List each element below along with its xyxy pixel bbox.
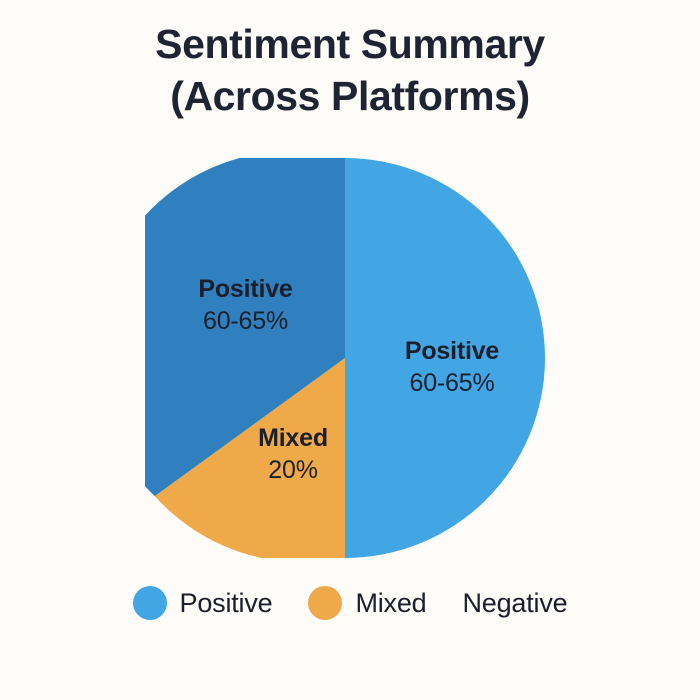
pie-graphic: Positive 60-65% Positive 60-65% Mixed 20… (145, 158, 545, 558)
chart-title-line-2: (Across Platforms) (0, 70, 700, 122)
legend-label-positive: Positive (180, 588, 273, 619)
legend-item-negative[interactable]: Negative (463, 586, 568, 620)
legend-item-positive[interactable]: Positive (133, 586, 273, 620)
pie-slice-positive-right[interactable] (345, 158, 545, 558)
chart-title: Sentiment Summary (Across Platforms) (0, 18, 700, 122)
legend-swatch-positive-icon (133, 586, 167, 620)
pie-svg (145, 158, 545, 558)
legend-label-negative: Negative (463, 588, 568, 619)
pie-chart-figure: Sentiment Summary (Across Platforms) Pos… (0, 0, 700, 700)
legend-label-mixed: Mixed (355, 588, 426, 619)
chart-legend: Positive Mixed Negative (0, 586, 700, 620)
chart-title-line-1: Sentiment Summary (0, 18, 700, 70)
legend-item-mixed[interactable]: Mixed (308, 586, 426, 620)
legend-swatch-mixed-icon (308, 586, 342, 620)
